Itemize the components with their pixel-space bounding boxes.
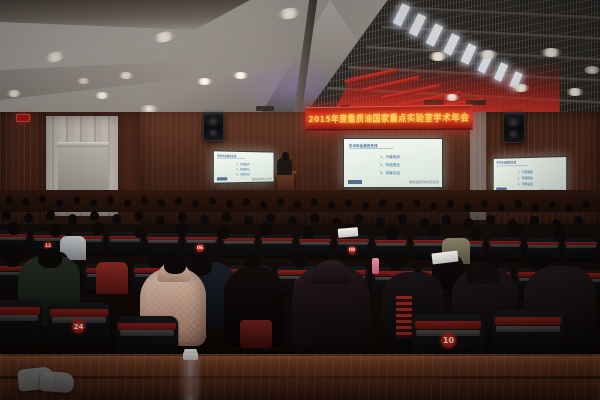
desk-seam xyxy=(0,376,600,379)
downlight xyxy=(584,66,600,74)
downlight xyxy=(6,90,22,97)
slide-logo xyxy=(217,177,227,180)
seat-number-badge: 10 xyxy=(441,333,456,348)
downlight xyxy=(566,88,584,96)
slide-bullet-2: 2、特邀报告 xyxy=(380,163,400,168)
downlight xyxy=(94,92,110,99)
slide-bullet-1: 1、开幕致辞 xyxy=(518,170,533,174)
downlight xyxy=(76,78,91,84)
seat xyxy=(0,300,42,344)
slide-rule xyxy=(496,165,527,166)
seat xyxy=(564,238,598,260)
seat-number-badge: 06 xyxy=(196,244,204,252)
slide-bullet-1: 1、开幕致辞 xyxy=(380,155,400,160)
downlight xyxy=(428,52,448,61)
downlight xyxy=(540,48,562,57)
slide-bullet-2: 2、特邀报告 xyxy=(236,167,249,171)
slide-rule xyxy=(217,158,245,159)
attendee-scarf xyxy=(396,296,412,338)
slide-bullet-3: 3、闭幕总结 xyxy=(518,182,533,186)
seat-number-badge: 08 xyxy=(348,246,356,254)
presenter-head xyxy=(282,152,289,160)
slide-bullet-1: 1、开幕致辞 xyxy=(236,162,249,166)
attendee-red-garment xyxy=(240,320,272,348)
left-display-screen: 学术年会报告安排 1、开幕致辞 2、特邀报告 3、闭幕总结 重质油国家重点实验室 xyxy=(213,150,275,183)
left-loudspeaker-icon xyxy=(203,112,224,141)
downlight xyxy=(196,78,213,85)
slide-rule xyxy=(349,148,393,149)
attendee-hood xyxy=(466,262,500,284)
conference-banner: 2015年度重质油国家重点实验室学术年会 xyxy=(305,105,472,131)
downlight xyxy=(232,72,249,79)
window-header-left xyxy=(57,142,109,147)
attendee-torso xyxy=(96,262,128,294)
gloves xyxy=(39,371,74,393)
downlight xyxy=(478,50,498,59)
auditorium-photo: 2015年度重质油国家重点实验室学术年会 学术年会报告安排 1、开幕致辞 2、特… xyxy=(0,0,600,400)
laptop xyxy=(338,227,359,238)
seat-number-badge: 24 xyxy=(72,320,85,333)
main-projection-screen: 学术年会报告安排 1、开幕致辞 2、特邀报告 3、闭幕总结 重质油国家重点实验室 xyxy=(343,138,443,188)
ceiling-vent xyxy=(256,106,274,111)
water-bottle-label xyxy=(186,376,195,396)
slide-bullet-2: 2、特邀报告 xyxy=(518,176,533,180)
slide-bullet-3: 3、闭幕总结 xyxy=(380,171,400,176)
slide-logo xyxy=(348,180,362,184)
banner-text: 2015年度重质油国家重点实验室学术年会 xyxy=(308,110,469,125)
right-loudspeaker-icon xyxy=(503,112,525,143)
presenter-body xyxy=(277,158,292,175)
downlight xyxy=(512,84,530,92)
slide-bullet-3: 3、闭幕总结 xyxy=(236,172,249,176)
downlight xyxy=(118,72,134,79)
slide-footer: 重质油国家重点实验室 xyxy=(409,180,439,184)
slide-footer: 重质油国家重点实验室 xyxy=(252,177,272,181)
water-bottle-lid xyxy=(184,349,197,353)
seat xyxy=(492,310,564,356)
ceiling xyxy=(0,0,600,120)
exit-sign-icon xyxy=(16,114,30,122)
pink-water-bottle xyxy=(372,258,379,274)
water-bottle-cap xyxy=(183,352,198,360)
seat xyxy=(116,316,178,358)
downlight xyxy=(444,94,460,101)
slide-title: 学术年会报告安排 xyxy=(496,160,516,164)
seat xyxy=(260,234,294,256)
